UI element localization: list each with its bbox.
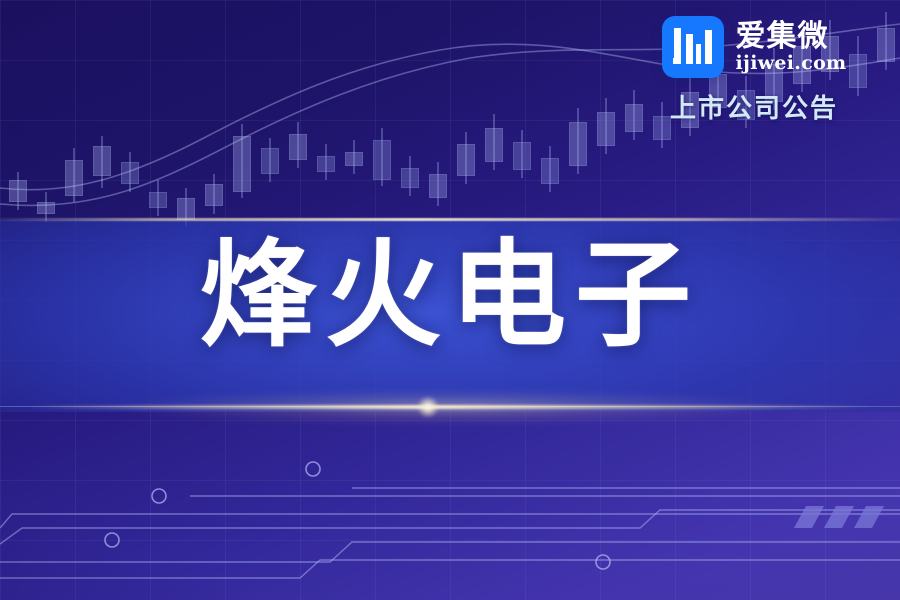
circuit-pattern xyxy=(0,410,900,600)
logo-bars-svg xyxy=(672,28,714,66)
circuit-trace xyxy=(0,560,900,578)
logo-block: 爱集微 ijiwei.com 上市公司公告 xyxy=(634,16,874,125)
circuit-bar xyxy=(794,506,824,528)
flare-rule xyxy=(0,406,900,407)
announcement-banner: 爱集微 ijiwei.com 上市公司公告 烽火电子 xyxy=(0,0,900,600)
circuit-trace xyxy=(0,542,900,562)
circuit-bar xyxy=(854,506,884,528)
circuit-node-icon xyxy=(105,533,119,547)
band-top-highlight xyxy=(0,218,900,221)
logo-wordmark: 爱集微 ijiwei.com xyxy=(736,21,847,73)
logo-subtitle: 上市公司公告 xyxy=(670,88,838,125)
circuit-node-icon xyxy=(306,462,320,476)
page-title: 烽火电子 xyxy=(0,232,900,360)
bar-chart-logo-icon xyxy=(662,16,724,78)
circuit-node-icon xyxy=(596,555,610,569)
logo-row: 爱集微 ijiwei.com xyxy=(662,16,847,78)
circuit-bar xyxy=(824,506,854,528)
brand-domain: ijiwei.com xyxy=(736,54,847,73)
circuit-node-icon xyxy=(152,489,166,503)
brand-name-cn: 爱集微 xyxy=(736,21,847,53)
circuit-trace xyxy=(0,510,900,544)
circuit-trace xyxy=(0,514,900,528)
